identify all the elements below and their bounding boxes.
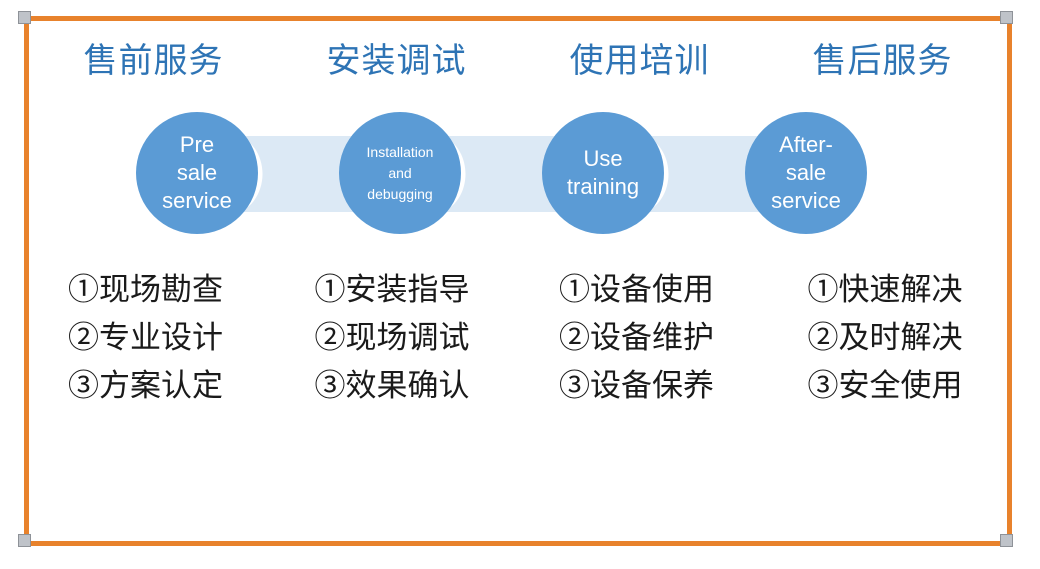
list-item: ①安装指导 — [315, 266, 520, 314]
list-item: ②设备维护 — [559, 314, 764, 362]
resize-handle-top-right[interactable] — [1000, 11, 1013, 24]
list-item: ③设备保养 — [559, 362, 764, 410]
resize-handle-top-left[interactable] — [18, 11, 31, 24]
column-header-install: 安装调试 — [273, 40, 520, 92]
list-item: ③效果确认 — [315, 362, 520, 410]
detail-list-aftersale: ①快速解决 ②及时解决 ③安全使用 — [764, 266, 1013, 410]
resize-handle-bottom-left[interactable] — [18, 534, 31, 547]
detail-list-install: ①安装指导 ②现场调试 ③效果确认 — [273, 266, 520, 410]
list-item: ③安全使用 — [808, 362, 1013, 410]
list-item: ②专业设计 — [68, 314, 273, 362]
chain-node-label-install: Installationanddebugging — [361, 142, 440, 205]
process-chain-diagram: Presaleservice Installationanddebugging … — [120, 112, 896, 236]
detail-list-training: ①设备使用 ②设备维护 ③设备保养 — [519, 266, 764, 410]
list-item: ①设备使用 — [559, 266, 764, 314]
resize-handle-bottom-right[interactable] — [1000, 534, 1013, 547]
chain-node-install[interactable]: Installationanddebugging — [339, 112, 461, 234]
list-item: ①快速解决 — [808, 266, 1013, 314]
column-header-aftersale: 售后服务 — [759, 40, 1006, 92]
column-headers: 售前服务 安装调试 使用培训 售后服务 — [24, 40, 1012, 92]
list-item: ①现场勘查 — [68, 266, 273, 314]
chain-node-presale[interactable]: Presaleservice — [136, 112, 258, 234]
column-header-training: 使用培训 — [516, 40, 763, 92]
chain-node-training[interactable]: Usetraining — [542, 112, 664, 234]
chain-node-label-aftersale: After-saleservice — [765, 131, 847, 215]
detail-lists: ①现场勘查 ②专业设计 ③方案认定 ①安装指导 ②现场调试 ③效果确认 ①设备使… — [24, 266, 1012, 410]
column-header-presale: 售前服务 — [30, 40, 277, 92]
slide-canvas: 售前服务 安装调试 使用培训 售后服务 Presaleservice Insta… — [0, 0, 1040, 569]
chain-node-label-training: Usetraining — [561, 145, 645, 201]
detail-list-presale: ①现场勘查 ②专业设计 ③方案认定 — [24, 266, 273, 410]
list-item: ③方案认定 — [68, 362, 273, 410]
list-item: ②现场调试 — [315, 314, 520, 362]
list-item: ②及时解决 — [808, 314, 1013, 362]
chain-node-aftersale[interactable]: After-saleservice — [745, 112, 867, 234]
chain-node-label-presale: Presaleservice — [156, 131, 238, 215]
